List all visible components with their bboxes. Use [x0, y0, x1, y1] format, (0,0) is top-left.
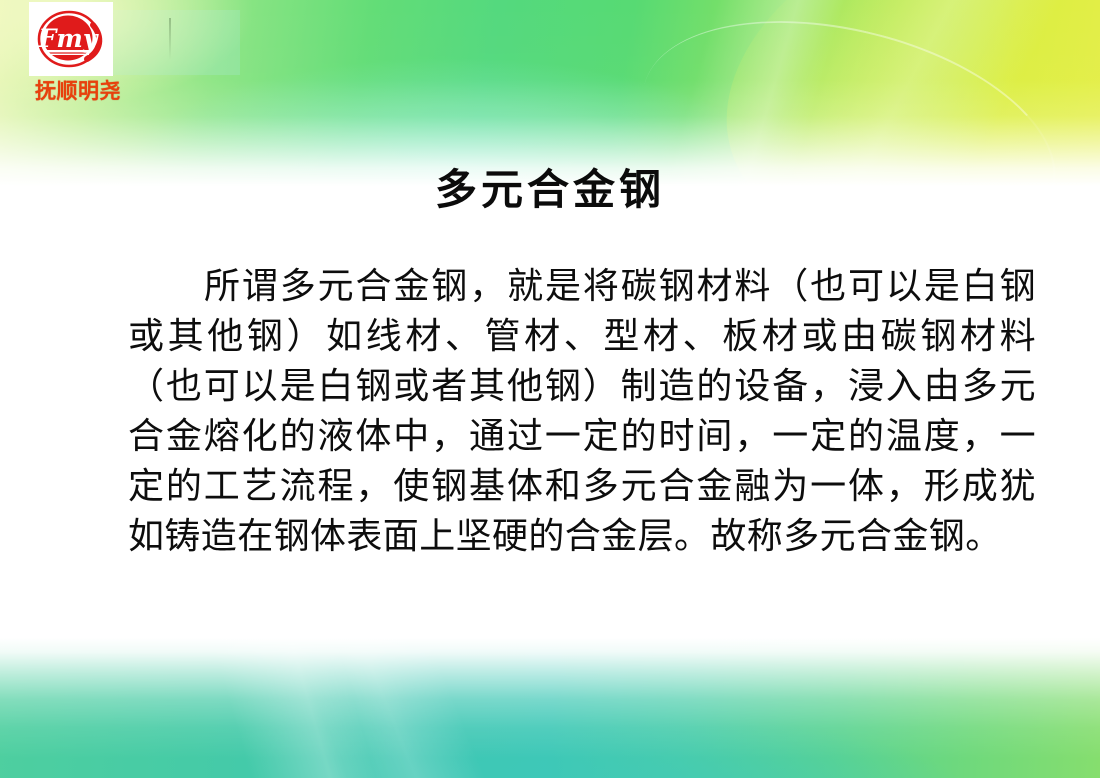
logo-white-plate: Fmy — [29, 2, 113, 76]
brand-logo-block: Fmy 抚顺明尧 — [18, 2, 138, 103]
banner-top-seam-line — [169, 18, 171, 60]
fmy-circle-logo-icon: Fmy — [35, 7, 107, 71]
banner-bottom-teal-glow — [0, 638, 1100, 778]
banner-bottom-swoosh-two — [0, 638, 1100, 778]
slide-canvas: Fmy 抚顺明尧 多元合金钢 所谓多元合金钢，就是将碳钢材料（也可以是白钢或其他… — [0, 0, 1100, 778]
svg-text:Fmy: Fmy — [38, 24, 99, 53]
banner-bottom-white-fade — [0, 638, 1100, 778]
bottom-decorative-banner — [0, 638, 1100, 778]
slide-title: 多元合金钢 — [0, 166, 1100, 214]
slide-body-paragraph: 所谓多元合金钢，就是将碳钢材料（也可以是白钢或其他钢）如线材、管材、型材、板材或… — [128, 262, 1036, 562]
banner-bottom-swoosh-one — [0, 638, 1100, 778]
banner-bottom-base-gradient — [0, 638, 1100, 778]
company-name-label: 抚顺明尧 — [18, 80, 138, 103]
